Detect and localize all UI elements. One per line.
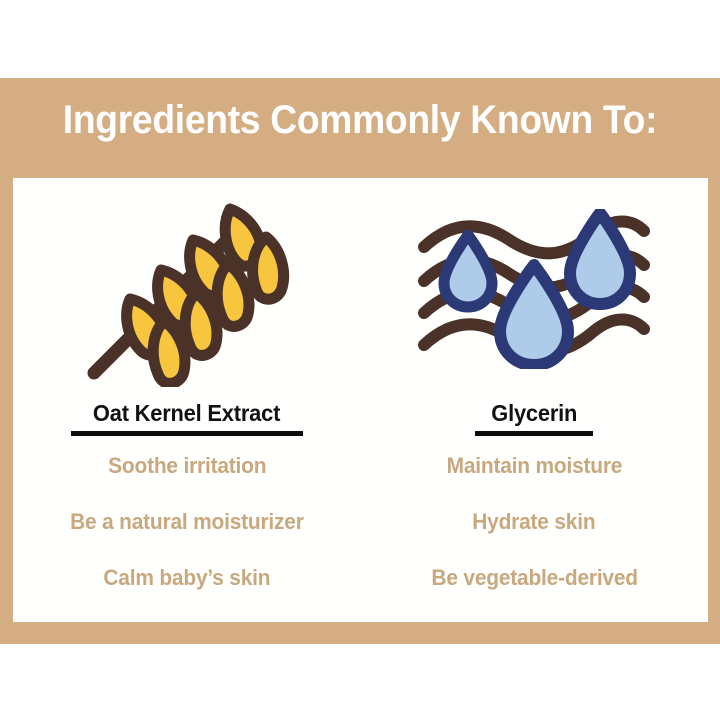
ingredient-name-underline <box>71 431 303 436</box>
benefit-list-glycerin: Maintain moisture Hydrate skin Be vegeta… <box>361 453 709 591</box>
benefit-item: Be vegetable-derived <box>431 565 637 591</box>
wheat-stalk-icon <box>80 191 294 387</box>
benefit-item: Soothe irritation <box>108 453 266 479</box>
oat-icon-slot <box>13 178 361 400</box>
ingredients-infographic: Ingredients Commonly Known To: <box>0 0 720 720</box>
ingredient-name-oat-kernel-extract: Oat Kernel Extract <box>93 400 280 426</box>
benefit-item: Be a natural moisturizer <box>70 509 304 535</box>
ingredient-column-oat-kernel-extract: Oat Kernel Extract Soothe irritation Be … <box>13 178 361 622</box>
water-droplets-waves-icon <box>418 209 650 369</box>
ingredient-columns: Oat Kernel Extract Soothe irritation Be … <box>13 178 708 622</box>
ingredient-name-glycerin: Glycerin <box>491 400 577 426</box>
page-title: Ingredients Commonly Known To: <box>25 96 695 144</box>
benefit-item: Hydrate skin <box>473 509 596 535</box>
benefit-list-oat-kernel-extract: Soothe irritation Be a natural moisturiz… <box>13 453 361 591</box>
water-droplet-small-icon <box>444 235 492 307</box>
benefit-item: Maintain moisture <box>446 453 622 479</box>
ingredient-name-underline <box>475 431 593 436</box>
ingredients-card: Oat Kernel Extract Soothe irritation Be … <box>13 178 708 622</box>
benefit-item: Calm baby’s skin <box>103 565 270 591</box>
glycerin-icon-slot <box>361 178 709 400</box>
ingredient-column-glycerin: Glycerin Maintain moisture Hydrate skin … <box>361 178 709 622</box>
